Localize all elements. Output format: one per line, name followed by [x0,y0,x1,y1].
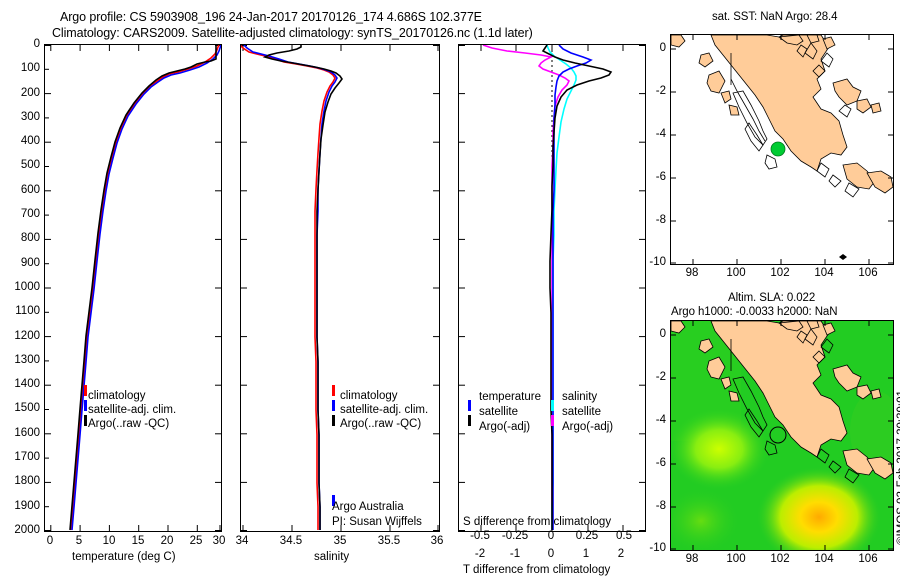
sla-xtick-98: 98 [681,553,703,565]
sst-ytick--6: -6 [640,171,666,183]
difference-series-salinity-argo [483,45,569,530]
sst-xtick-106: 106 [854,267,882,279]
page-title-line1: Argo profile: CS 5903908_196 24-Jan-2017… [60,10,482,24]
sla-xtick-102: 102 [766,553,794,565]
difference-t-xtick-1: 1 [578,548,594,560]
sst-ytick--2: -2 [640,85,666,97]
legend-label-temp-satellite: satellite [479,405,541,420]
legend-label-climatology: climatology [340,391,398,402]
difference-t-xtick--2: -2 [470,548,490,560]
salinity-footer: Argo Australia PI: Susan Wijffels [332,500,422,530]
temperature-xtick-25: 25 [188,535,204,547]
difference-s-xtick-025: 0.25 [569,530,605,542]
salinity-xtick-355: 35.5 [376,535,402,547]
argo-position-marker [771,142,785,156]
temperature-panel [44,44,222,532]
difference-t-xtick-0: 0 [543,548,559,560]
legend-label-temp-argo: Argo(-adj) [479,420,541,435]
difference-panel [458,44,646,532]
temperature-xtick-0: 0 [43,535,57,547]
salinity-legend-labels: climatology satellite-adj. clim. Argo(..… [340,389,428,431]
difference-t-xtick--1: -1 [505,548,525,560]
temperature-axis-label: temperature (deg C) [72,551,176,563]
legend-label-satellite-adj: satellite-adj. clim. [340,405,428,416]
temperature-plot-area [45,45,221,531]
legend-label-climatology: climatology [88,391,146,402]
sla-map-area [671,321,893,550]
temperature-xtick-20: 20 [159,535,175,547]
difference-legend-temperature: temperature satellite Argo(-adj) [479,390,541,435]
sst-ytick--8: -8 [640,214,666,226]
temperature-series-climatology [71,45,219,530]
temperature-legend-labels: climatology satellite-adj. clim. Argo(..… [88,389,176,431]
legend-label-satellite-adj: satellite-adj. clim. [88,405,176,416]
salinity-xtick-34: 34 [234,535,250,547]
sla-ytick--8: -8 [640,500,666,512]
difference-t-xtick-2: 2 [613,548,629,560]
salinity-panel [240,44,440,532]
sst-ytick--10: -10 [634,256,666,268]
sla-xtick-106: 106 [854,553,882,565]
salinity-axis-label: salinity [314,551,349,563]
salinity-legend [332,385,335,506]
sla-ytick--10: -10 [634,542,666,554]
temperature-xtick-5: 5 [72,535,86,547]
sla-xtick-100: 100 [722,553,750,565]
sla-map-title-line1: Altim. SLA: 0.022 [728,292,815,304]
legend-title-temperature: temperature [479,390,541,405]
legend-label-sal-argo: Argo(-adj) [562,420,613,435]
sst-xtick-100: 100 [722,267,750,279]
difference-series-temperature-satellite [553,45,591,530]
sla-ytick-0: 0 [640,328,666,340]
imos-credit: ©IMOS 02-Feb-2017 20:39:01 [896,390,900,545]
legend-label-argo-raw: Argo(..raw -QC) [88,419,169,430]
sst-map-title: sat. SST: NaN Argo: 28.4 [712,11,837,23]
salinity-xtick-36: 36 [429,535,445,547]
salinity-series-climatology [241,45,335,530]
difference-salinity-axis-label: S difference from climatology [463,516,611,528]
sla-map-panel [670,320,894,551]
difference-legend-salinity: salinity satellite Argo(-adj) [562,390,613,435]
salinity-series-satellite-adj [244,45,337,530]
sla-map-title-line2: Argo h1000: -0.0033 h2000: NaN [671,306,837,318]
temperature-legend [84,385,87,426]
salinity-plot-area [241,45,439,531]
difference-s-xtick--05: -0.5 [464,530,496,542]
temperature-xtick-10: 10 [101,535,117,547]
difference-s-xtick--025: -0.25 [495,530,535,542]
temperature-xtick-15: 15 [130,535,146,547]
temperature-series-satellite-adj [72,45,221,530]
sst-ytick-0: 0 [640,42,666,54]
salinity-xtick-345: 34.5 [278,535,304,547]
sla-ytick--6: -6 [640,457,666,469]
legend-title-salinity: salinity [562,390,613,405]
sst-xtick-98: 98 [681,267,703,279]
temperature-xtick-30: 30 [211,535,227,547]
sla-ytick--2: -2 [640,371,666,383]
difference-plot-area [459,45,645,531]
footer-argo-australia: Argo Australia [332,500,422,515]
sst-map-area [671,35,893,264]
legend-label-argo-raw: Argo(..raw -QC) [340,419,421,430]
difference-temperature-axis-label: T difference from climatology [463,564,610,576]
sst-xtick-104: 104 [810,267,838,279]
difference-s-xtick-0: 0 [544,530,558,542]
legend-label-sal-satellite: satellite [562,405,613,420]
salinity-xtick-35: 35 [332,535,348,547]
sst-map-panel [670,34,894,265]
sst-ytick--4: -4 [640,128,666,140]
sla-ytick--4: -4 [640,414,666,426]
difference-s-xtick-05: 0.5 [610,530,638,542]
sst-xtick-102: 102 [766,267,794,279]
footer-pi: PI: Susan Wijffels [332,515,422,530]
page-title-line2: Climatology: CARS2009. Satellite-adjuste… [52,26,533,40]
salinity-series-argo-raw [265,45,342,530]
temperature-series-argo-raw [70,45,216,530]
sla-xtick-104: 104 [810,553,838,565]
temperature-y-ticklabels: 0 100 200 300 400 500 600 700 800 900 10… [0,38,40,548]
